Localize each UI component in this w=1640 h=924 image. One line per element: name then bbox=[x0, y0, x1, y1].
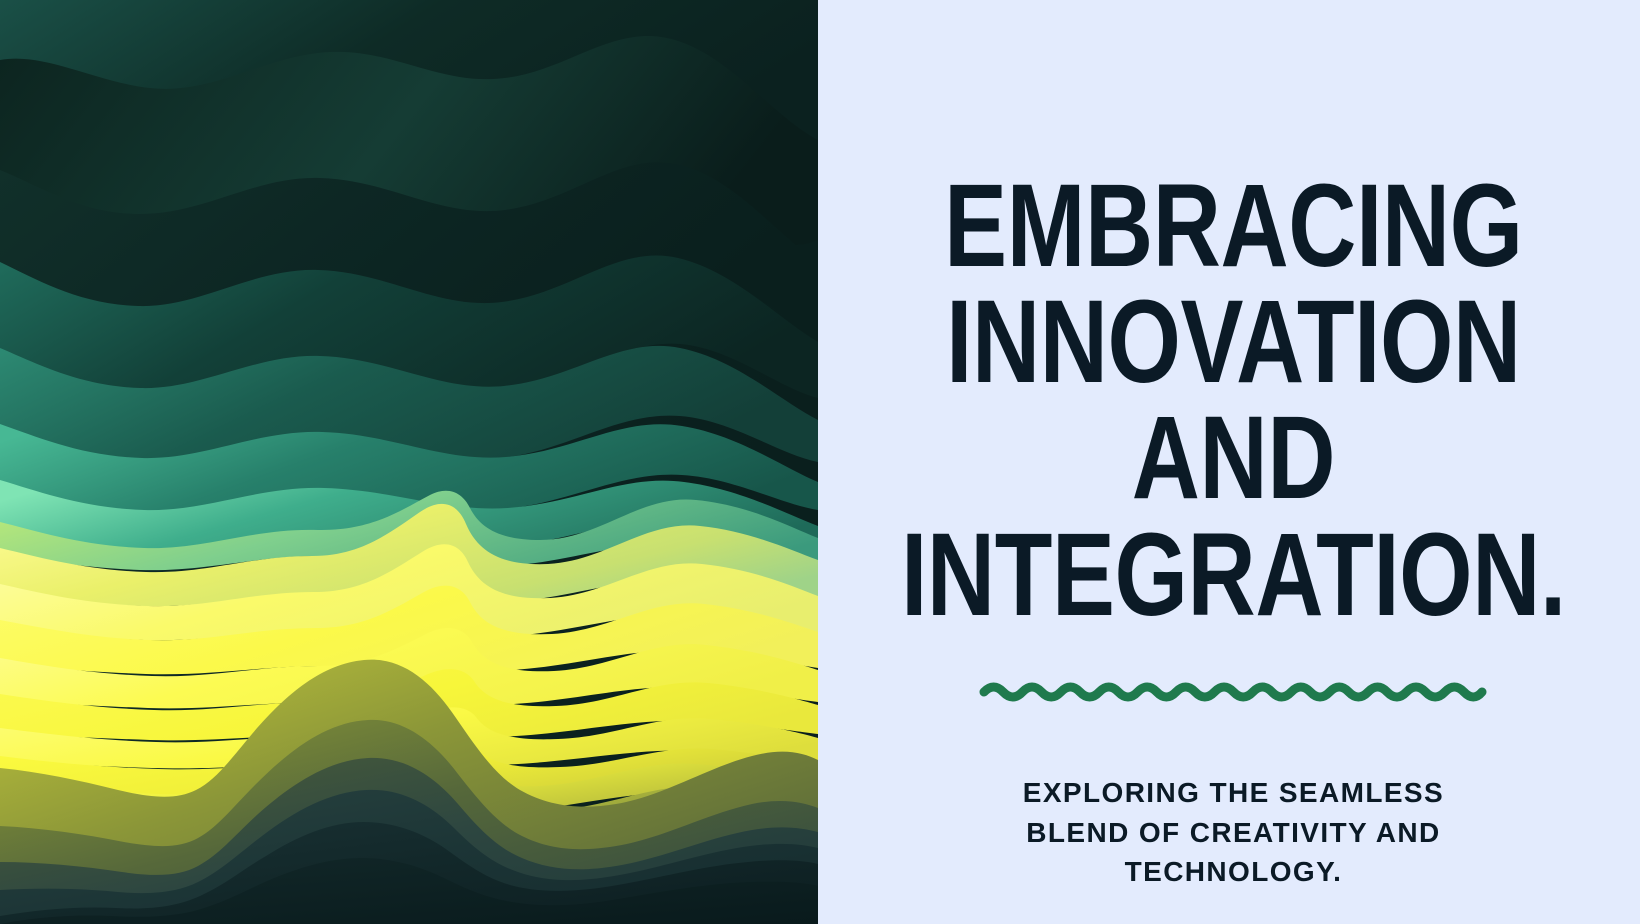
headline-line-3: AND bbox=[901, 400, 1566, 516]
divider bbox=[818, 677, 1640, 707]
abstract-topography-artwork bbox=[0, 0, 818, 924]
page-title: EMBRACING INNOVATION AND INTEGRATION. bbox=[901, 168, 1566, 633]
headline-line-4: INTEGRATION. bbox=[901, 517, 1566, 633]
page-subtitle: EXPLORING THE SEAMLESS BLEND OF CREATIVI… bbox=[973, 773, 1493, 892]
content-panel: EMBRACING INNOVATION AND INTEGRATION. EX… bbox=[818, 0, 1640, 924]
subtitle-line-1: EXPLORING THE SEAMLESS bbox=[973, 773, 1493, 813]
artwork-panel bbox=[0, 0, 818, 924]
subtitle-line-2: BLEND OF CREATIVITY AND bbox=[973, 813, 1493, 853]
wavy-divider-icon bbox=[978, 677, 1488, 707]
headline-line-1: EMBRACING bbox=[901, 168, 1566, 284]
poster-root: EMBRACING INNOVATION AND INTEGRATION. EX… bbox=[0, 0, 1640, 924]
subtitle-line-3: TECHNOLOGY. bbox=[973, 852, 1493, 892]
headline-line-2: INNOVATION bbox=[901, 284, 1566, 400]
